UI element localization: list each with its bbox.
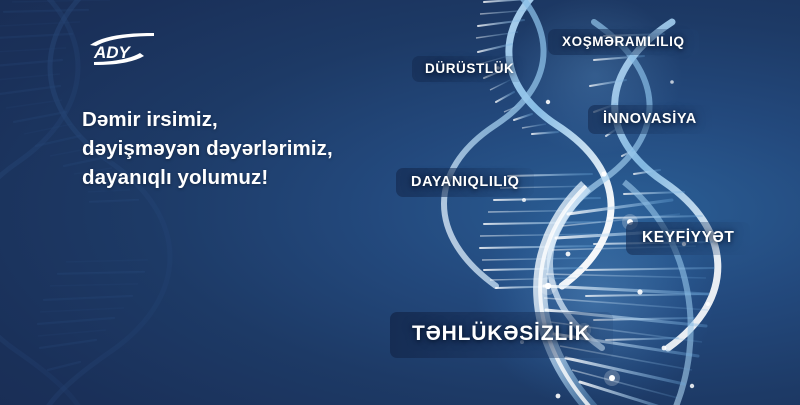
value-label-text: KEYFİYYƏT	[642, 229, 734, 247]
value-label-text: İNNOVASİYA	[603, 111, 697, 127]
headline-line-3: dayanıqlı yolumuz!	[82, 163, 382, 192]
value-label-tehlukesizlik: TƏHLÜKƏSİZLİK	[390, 312, 613, 358]
value-label-dayaniqliliq: DAYANIQLILIQ	[396, 168, 534, 197]
ady-values-banner: ADY Dəmir irsimiz, dəyişməyən dəyərlərim…	[0, 0, 800, 405]
value-label-xosmeramliliq: XOŞMƏRAMLILIQ	[548, 29, 699, 55]
value-label-innovasiya: İNNOVASİYA	[588, 105, 712, 134]
value-label-text: DÜRÜSTLÜK	[425, 61, 514, 76]
value-label-durustluk: DÜRÜSTLÜK	[412, 56, 527, 82]
headline-line-2: dəyişməyən dəyərlərimiz,	[82, 134, 382, 163]
headline-line-1: Dəmir irsimiz,	[82, 105, 382, 134]
value-label-text: DAYANIQLILIQ	[411, 174, 519, 190]
value-label-text: XOŞMƏRAMLILIQ	[562, 34, 685, 49]
value-label-text: TƏHLÜKƏSİZLİK	[412, 322, 591, 346]
ady-logo-text: ADY	[93, 43, 132, 62]
value-label-keyfiyyet: KEYFİYYƏT	[626, 222, 750, 255]
page-title: Dəmir irsimiz, dəyişməyən dəyərlərimiz, …	[82, 105, 382, 192]
ady-logo[interactable]: ADY	[84, 32, 162, 66]
